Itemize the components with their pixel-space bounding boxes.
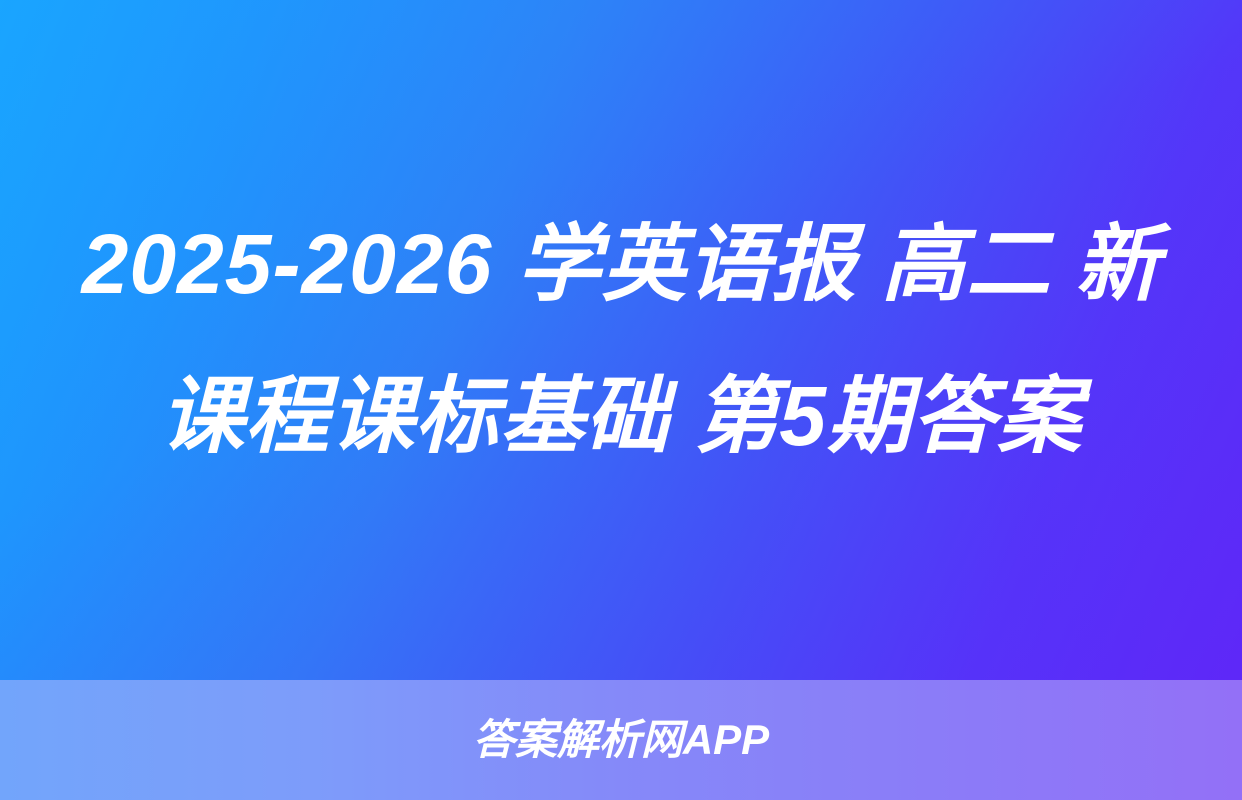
banner-title: 2025-2026 学英语报 高二 新课程课标基础 第5期答案	[46, 188, 1196, 492]
banner-title-block: 2025-2026 学英语报 高二 新课程课标基础 第5期答案	[0, 0, 1242, 680]
promo-banner: 2025-2026 学英语报 高二 新课程课标基础 第5期答案 答案解析网APP	[0, 0, 1242, 800]
banner-footer-bar: 答案解析网APP	[0, 680, 1242, 800]
app-brand-label: 答案解析网APP	[473, 719, 769, 761]
